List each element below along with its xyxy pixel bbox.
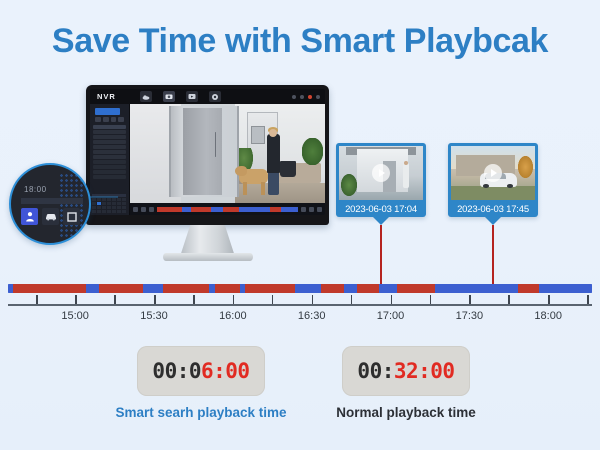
nvr-monitor: NVR: [86, 85, 329, 225]
player-track-segment: [281, 207, 298, 212]
calendar-day[interactable]: [92, 202, 96, 205]
timeline-tick: [312, 295, 314, 304]
play-icon[interactable]: [372, 164, 390, 182]
timeline-tick: [233, 295, 235, 304]
video-person-head: [269, 129, 277, 137]
player-track-segment: [211, 207, 224, 212]
nvr-toolbar: [140, 91, 221, 102]
magnifier-filter-row: [21, 208, 80, 225]
timeline-tick: [75, 295, 77, 304]
magnifier-strip: [21, 198, 83, 204]
clock-digits: 00:32:00: [357, 359, 454, 383]
list-item[interactable]: [93, 155, 126, 159]
callout-connector-line: [380, 225, 382, 287]
monitor-stand-base: [163, 253, 253, 261]
list-item[interactable]: [93, 135, 126, 139]
play-icon[interactable]: [133, 207, 138, 212]
normal-playback-stat: 00:32:00 Normal playback time: [318, 346, 494, 420]
timeline-label: 16:00: [219, 310, 247, 322]
list-item[interactable]: [93, 165, 126, 169]
player-track-segment: [270, 207, 281, 212]
player-control-bar: [130, 203, 325, 215]
grid-icon[interactable]: [95, 117, 101, 122]
calendar-day[interactable]: [102, 206, 106, 209]
thumbnail-image: [339, 146, 423, 200]
list-item[interactable]: [93, 130, 126, 134]
thumb-car-wheel: [483, 184, 489, 188]
clock-prefix: 00:0: [152, 359, 201, 383]
filter-icon[interactable]: [111, 117, 117, 122]
monitor-screen: NVR: [90, 89, 325, 215]
timeline-label: 15:00: [61, 310, 89, 322]
monitor-stand-neck: [181, 225, 235, 255]
nvr-topbar: NVR: [90, 89, 325, 104]
calendar-day[interactable]: [112, 210, 116, 213]
video-person-legs: [268, 169, 279, 195]
video-plant-right: [302, 138, 323, 166]
calendar-day[interactable]: [117, 210, 121, 213]
list-item[interactable]: [93, 150, 126, 154]
thumb-person-head: [404, 161, 408, 165]
timeline-segment: [245, 284, 295, 293]
player-right-controls: [301, 207, 322, 212]
calendar-day[interactable]: [92, 198, 96, 201]
timeline-tick: [272, 295, 274, 304]
player-track-segment: [182, 207, 190, 212]
timeline-segment: [86, 284, 99, 293]
timeline-segment-bar[interactable]: [8, 284, 592, 293]
timeline-segment: [163, 284, 209, 293]
calendar-day[interactable]: [97, 198, 101, 201]
camera-icon[interactable]: [163, 91, 175, 102]
calendar-day[interactable]: [112, 202, 116, 205]
cloud-icon[interactable]: [140, 91, 152, 102]
clock-display: 00:06:00: [137, 346, 265, 396]
playback-icon[interactable]: [186, 91, 198, 102]
video-floor: [235, 183, 325, 203]
video-bag: [280, 161, 296, 177]
player-track-segment: [239, 207, 270, 212]
timeline-tick: [154, 295, 156, 304]
calendar-day[interactable]: [97, 206, 101, 209]
clock-label: Normal playback time: [318, 405, 494, 420]
close-icon[interactable]: [316, 95, 320, 99]
video-dog-head: [235, 166, 247, 176]
calendar-day[interactable]: [102, 210, 106, 213]
timeline-segment: [13, 284, 86, 293]
timeline-segment: [99, 284, 143, 293]
timeline-segment: [435, 284, 518, 293]
timeline-segment: [143, 284, 163, 293]
list-item[interactable]: [93, 125, 126, 129]
channel-list: [93, 125, 126, 179]
thumb-ground: [451, 186, 535, 200]
timeline-segment: [321, 284, 344, 293]
player-track-segment: [191, 207, 211, 212]
nvr-logo: NVR: [97, 92, 116, 101]
clock-display: 00:32:00: [342, 346, 470, 396]
clock-digits: 00:06:00: [152, 359, 249, 383]
video-feed[interactable]: [130, 104, 325, 203]
thumb-shrub: [341, 174, 358, 196]
recording-timeline[interactable]: 15:0015:3016:0016:3017:0017:3018:00: [8, 284, 592, 306]
video-picture-frame: [251, 126, 265, 144]
calendar-day[interactable]: [112, 206, 116, 209]
list-icon[interactable]: [103, 117, 109, 122]
timeline-label: 17:30: [456, 310, 484, 322]
timeline-label: 17:00: [377, 310, 405, 322]
record-icon[interactable]: [308, 95, 312, 99]
calendar-day[interactable]: [102, 198, 106, 201]
timeline-label: 18:00: [534, 310, 562, 322]
vehicle-icon[interactable]: [42, 208, 59, 225]
timeline-tick: [114, 295, 116, 304]
list-item[interactable]: [93, 145, 126, 149]
timeline-axis: 15:0015:3016:0016:3017:0017:3018:00: [8, 304, 592, 306]
calendar-day[interactable]: [102, 202, 106, 205]
calendar-day[interactable]: [92, 206, 96, 209]
timeline-tick: [587, 295, 589, 304]
search-button[interactable]: [95, 108, 120, 115]
timeline-segment: [518, 284, 539, 293]
calendar-day[interactable]: [92, 210, 96, 213]
calendar-day[interactable]: [117, 202, 121, 205]
calendar-day[interactable]: [117, 198, 121, 201]
minimize-icon[interactable]: [292, 95, 296, 99]
timeline-segment: [215, 284, 240, 293]
sidebar-tool-row: [95, 117, 124, 122]
calendar-day-selected[interactable]: [97, 202, 101, 205]
calendar-grid: [92, 198, 126, 213]
list-item[interactable]: [93, 160, 126, 164]
monitor-bezel: NVR: [86, 85, 329, 225]
video-person-body: [267, 134, 281, 174]
player-timeline-track[interactable]: [157, 207, 298, 212]
timeline-tick: [430, 295, 432, 304]
fullscreen-icon[interactable]: [317, 207, 322, 212]
timeline-tick: [36, 295, 38, 304]
calendar-day[interactable]: [122, 210, 126, 213]
timeline-segment: [295, 284, 321, 293]
poster-stage: Save Time with Smart Playbcak NVR: [0, 0, 600, 450]
timeline-tick: [508, 295, 510, 304]
page-title: Save Time with Smart Playbcak: [0, 22, 600, 61]
settings-icon[interactable]: [209, 91, 221, 102]
smart-playback-stat: 00:06:00 Smart searh playback time: [113, 346, 289, 420]
list-item[interactable]: [93, 170, 126, 174]
calendar-day[interactable]: [122, 198, 126, 201]
thumb-person: [403, 163, 409, 188]
calendar-day[interactable]: [112, 198, 116, 201]
timeline-tick: [469, 295, 471, 304]
timeline-segment: [379, 284, 398, 293]
calendar-day[interactable]: [107, 206, 111, 209]
event-thumbnail-card[interactable]: 2023-06-03 17:45: [448, 143, 538, 217]
thumbnail-timestamp: 2023-06-03 17:04: [336, 201, 426, 217]
list-item[interactable]: [93, 140, 126, 144]
video-dog-leg: [261, 182, 265, 195]
timeline-label: 16:30: [298, 310, 326, 322]
square-icon[interactable]: [63, 208, 80, 225]
timeline-tick: [548, 295, 550, 304]
callout-tail: [372, 216, 390, 225]
timeline-segment: [397, 284, 435, 293]
clock-label: Smart searh playback time: [113, 405, 289, 420]
event-thumbnail-card[interactable]: 2023-06-03 17:04: [336, 143, 426, 217]
thumbnail-timestamp: 2023-06-03 17:45: [448, 201, 538, 217]
calendar-day[interactable]: [122, 202, 126, 205]
player-track-segment: [157, 207, 182, 212]
calendar-day[interactable]: [107, 198, 111, 201]
calendar-day[interactable]: [97, 210, 101, 213]
list-item[interactable]: [93, 175, 126, 179]
video-dog-leg: [243, 182, 247, 195]
timeline-tick: [351, 295, 353, 304]
clock-highlight: 6:00: [201, 359, 250, 383]
calendar-day[interactable]: [107, 202, 111, 205]
timeline-label: 15:30: [140, 310, 168, 322]
magnifier-dot-pattern: [59, 173, 85, 239]
calendar-day[interactable]: [122, 206, 126, 209]
maximize-icon[interactable]: [300, 95, 304, 99]
magnifier-callout: 18:00: [9, 163, 91, 245]
player-track-segment: [223, 207, 239, 212]
timeline-segment: [357, 284, 379, 293]
timeline-segment: [539, 284, 592, 293]
calendar-icon[interactable]: [118, 117, 124, 122]
stop-icon[interactable]: [149, 207, 154, 212]
person-icon[interactable]: [21, 208, 38, 225]
timeline-segment: [344, 284, 356, 293]
clock-highlight: 32:00: [394, 359, 455, 383]
calendar-day[interactable]: [107, 210, 111, 213]
callout-tail: [484, 216, 502, 225]
nvr-sidebar: [90, 104, 130, 215]
timeline-tick: [391, 295, 393, 304]
callout-connector-line: [492, 225, 494, 287]
calendar-day[interactable]: [117, 206, 121, 209]
zoom-icon[interactable]: [309, 207, 314, 212]
window-controls: [292, 95, 320, 99]
thumbnail-image: [451, 146, 535, 200]
speed-icon[interactable]: [301, 207, 306, 212]
timeline-tick: [193, 295, 195, 304]
play-icon[interactable]: [484, 164, 502, 182]
pause-icon[interactable]: [141, 207, 146, 212]
magnifier-time-label: 18:00: [24, 185, 47, 194]
thumb-tree: [518, 156, 533, 179]
clock-prefix: 00:: [357, 359, 393, 383]
